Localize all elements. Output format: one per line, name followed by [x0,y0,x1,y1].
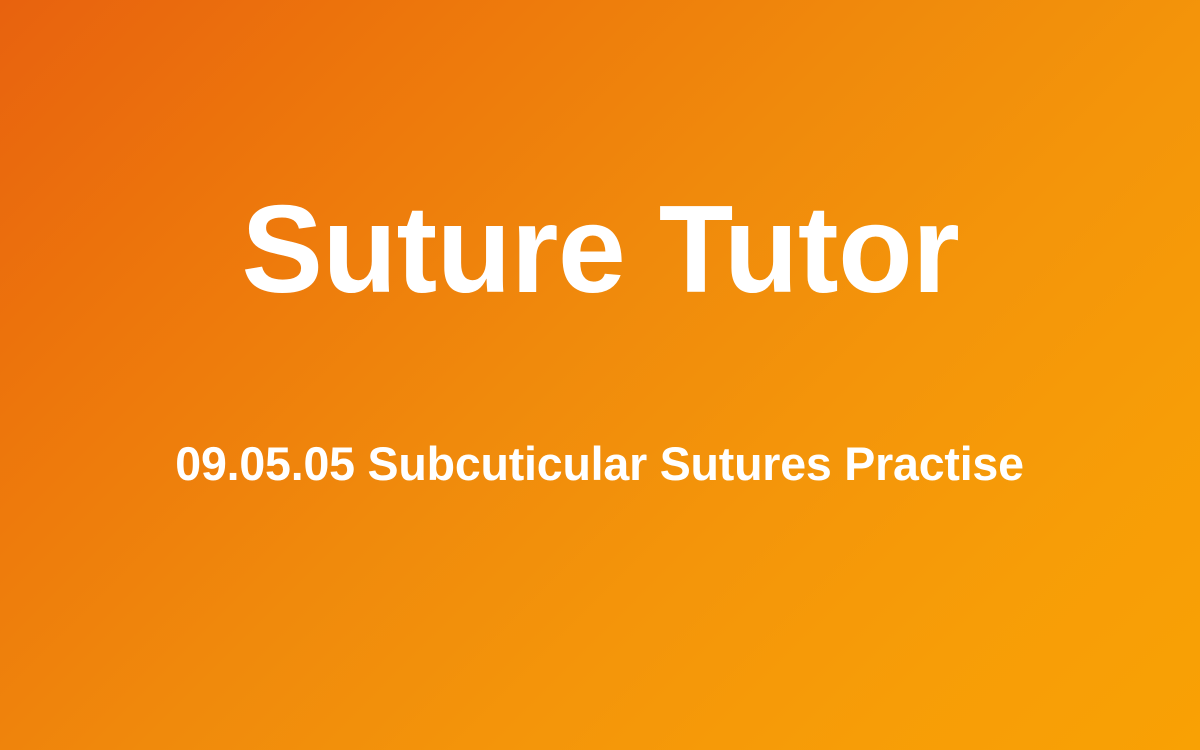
slide-subtitle: 09.05.05 Subcuticular Sutures Practise [176,440,1025,487]
empty-content-area [0,520,1200,750]
title-block: Suture Tutor [0,180,1200,320]
page-title: Suture Tutor [241,188,959,312]
subtitle-block: 09.05.05 Subcuticular Sutures Practise [0,432,1200,494]
title-slide: Suture Tutor 09.05.05 Subcuticular Sutur… [0,0,1200,750]
